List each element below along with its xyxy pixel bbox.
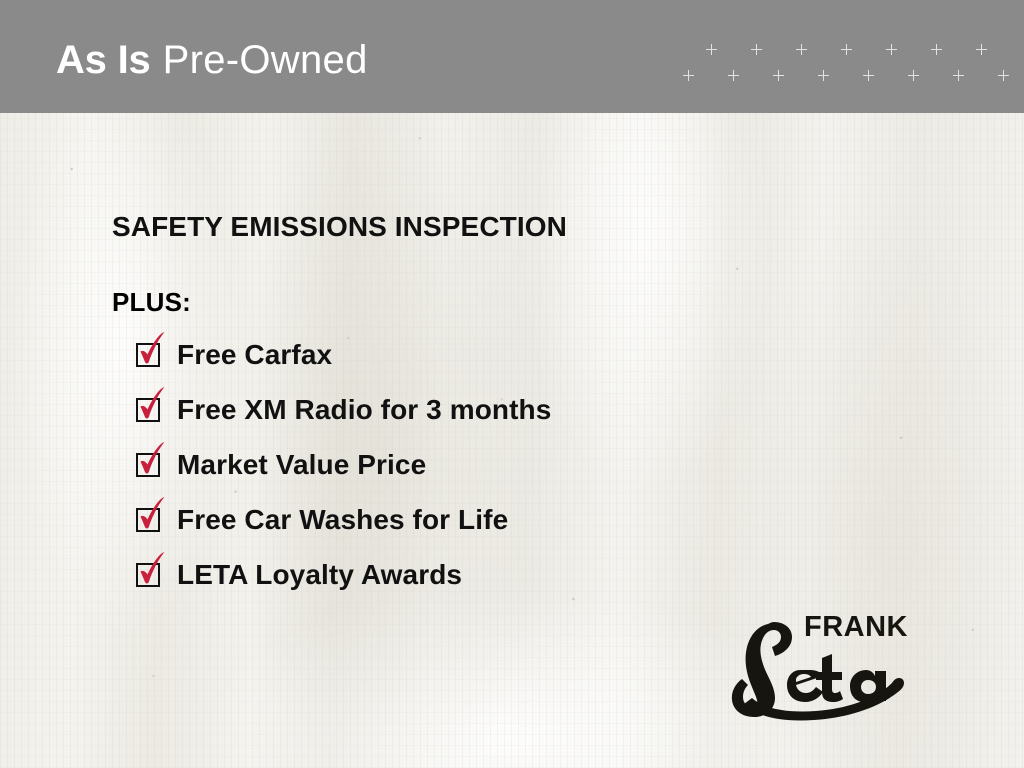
plus-icon — [863, 70, 874, 81]
checklist-item[interactable]: LETA Loyalty Awards — [112, 555, 932, 594]
checkmark-icon — [137, 552, 167, 586]
checklist-item-label: Free Carfax — [177, 338, 332, 372]
plus-icon — [796, 44, 807, 55]
checkmark-icon — [137, 332, 167, 366]
plus-icon — [706, 44, 717, 55]
header-band: As IsPre-Owned — [0, 0, 1024, 113]
heading-plus: PLUS: — [112, 286, 932, 318]
plus-icon — [976, 44, 987, 55]
checklist-item-label: Free Car Washes for Life — [177, 503, 508, 537]
checklist-item[interactable]: Free Car Washes for Life — [112, 500, 932, 539]
page-title: As IsPre-Owned — [56, 36, 368, 84]
slide-content: SAFETY EMISSIONS INSPECTION PLUS: Free C… — [112, 210, 932, 610]
plus-icon — [818, 70, 829, 81]
frank-leta-logo: FRANK — [706, 604, 918, 722]
plus-row-bottom — [670, 70, 1010, 84]
plus-icon — [998, 70, 1009, 81]
plus-icon — [886, 44, 897, 55]
plus-icon — [773, 70, 784, 81]
frank-leta-logo-artwork: FRANK — [706, 604, 918, 722]
plus-icon — [728, 70, 739, 81]
checklist-item[interactable]: Free XM Radio for 3 months — [112, 390, 932, 429]
checkmark-icon — [137, 497, 167, 531]
slide-canvas: As IsPre-Owned SAFETY EMISSIONS INSPECTI… — [0, 0, 1024, 768]
checkbox[interactable] — [136, 506, 164, 534]
plus-icon — [931, 44, 942, 55]
checkbox[interactable] — [136, 396, 164, 424]
checklist-item-label: Free XM Radio for 3 months — [177, 393, 551, 427]
plus-icon — [683, 70, 694, 81]
checklist-item[interactable]: Market Value Price — [112, 445, 932, 484]
checklist-item-label: Market Value Price — [177, 448, 426, 482]
plus-icon — [908, 70, 919, 81]
plus-icon — [953, 70, 964, 81]
plus-decoration-group — [670, 38, 1010, 94]
checkmark-icon — [137, 387, 167, 421]
page-title-strong: As Is — [56, 38, 151, 82]
benefits-checklist: Free CarfaxFree XM Radio for 3 monthsMar… — [112, 335, 932, 594]
checklist-item-label: LETA Loyalty Awards — [177, 558, 462, 592]
plus-row-top — [670, 44, 1010, 58]
plus-icon — [841, 44, 852, 55]
checkbox[interactable] — [136, 561, 164, 589]
plus-icon — [751, 44, 762, 55]
checkbox[interactable] — [136, 451, 164, 479]
logo-frank-text: FRANK — [804, 611, 908, 643]
checkmark-icon — [137, 442, 167, 476]
heading-safety-emissions-inspection: SAFETY EMISSIONS INSPECTION — [112, 210, 932, 244]
logo-script-L — [732, 622, 792, 717]
checklist-item[interactable]: Free Carfax — [112, 335, 932, 374]
page-title-light: Pre-Owned — [163, 38, 368, 82]
checkbox[interactable] — [136, 341, 164, 369]
